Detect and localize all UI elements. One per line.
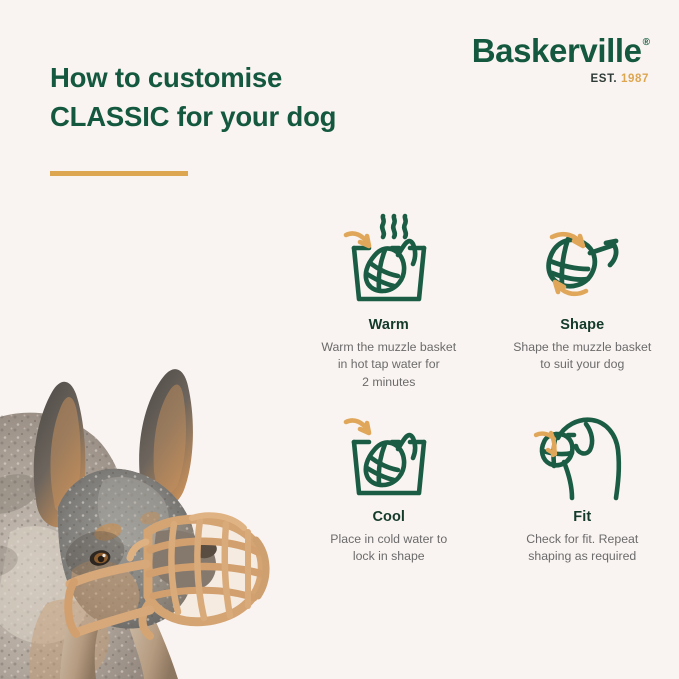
step-fit: Fit Check for fit. Repeat shaping as req…	[486, 409, 679, 605]
page-title-line-2: CLASSIC for your dog	[50, 97, 430, 136]
step-description: Warm the muzzle basket in hot tap water …	[321, 339, 456, 391]
step-desc-line: shaping as required	[526, 548, 638, 565]
brand-wordmark: Baskerville	[472, 34, 642, 67]
step-desc-line: in hot tap water for	[321, 356, 456, 373]
step-description: Check for fit. Repeat shaping as require…	[526, 531, 638, 566]
step-desc-line: Place in cold water to	[330, 531, 447, 548]
title-divider	[50, 171, 188, 176]
fit-dog-head-icon	[530, 409, 634, 505]
step-desc-line: Check for fit. Repeat	[526, 531, 638, 548]
step-shape: Shape Shape the muzzle basket to suit yo…	[486, 205, 679, 401]
step-desc-line: to suit your dog	[513, 356, 651, 373]
step-cool: Cool Place in cold water to lock in shap…	[292, 409, 486, 605]
step-description: Place in cold water to lock in shape	[330, 531, 447, 566]
step-desc-line: 2 minutes	[321, 374, 456, 391]
step-title: Fit	[573, 509, 591, 525]
infographic-page: Baskerville® EST. 1987 How to customise …	[0, 0, 679, 679]
steps-grid: Warm Warm the muzzle basket in hot tap w…	[292, 205, 679, 605]
shape-muzzle-icon	[530, 205, 634, 313]
page-title-line-1: How to customise	[50, 58, 430, 97]
brand-logo: Baskerville® EST. 1987	[472, 34, 649, 86]
established-line: EST. 1987	[472, 74, 649, 86]
step-warm: Warm Warm the muzzle basket in hot tap w…	[292, 205, 486, 401]
established-label: EST.	[591, 73, 618, 85]
dog-photo	[0, 232, 292, 679]
logo-wordmark-row: Baskerville®	[472, 34, 649, 67]
step-desc-line: Warm the muzzle basket	[321, 339, 456, 356]
cool-tub-icon	[337, 409, 441, 505]
step-title: Warm	[369, 317, 409, 333]
established-year: 1987	[621, 73, 649, 85]
dog-illustration	[0, 232, 292, 679]
step-description: Shape the muzzle basket to suit your dog	[513, 339, 651, 374]
page-title: How to customise CLASSIC for your dog	[50, 58, 430, 136]
step-title: Shape	[560, 317, 604, 333]
step-desc-line: lock in shape	[330, 548, 447, 565]
step-title: Cool	[372, 509, 405, 525]
registered-trademark-icon: ®	[643, 37, 650, 48]
step-desc-line: Shape the muzzle basket	[513, 339, 651, 356]
warm-tub-icon	[337, 205, 441, 313]
